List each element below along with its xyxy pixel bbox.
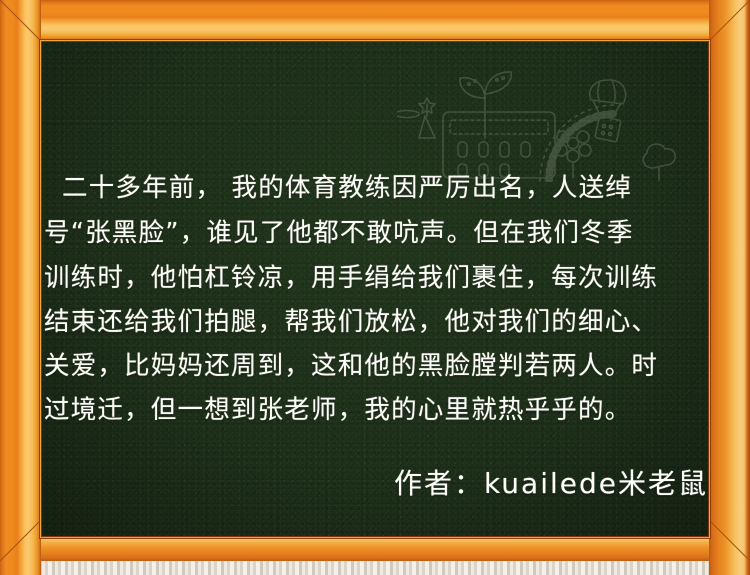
body-line-4: 结束还给我们拍腿，帮我们放松，他对我们的细心、 — [44, 301, 708, 338]
blackboard-surface: 二十多年前， 我的体育教练因严厉出名，人送绰 号“张黑脸”，谁见了他都不敢吭声。… — [42, 42, 708, 536]
chalk-text-block: 二十多年前， 我的体育教练因严厉出名，人送绰 号“张黑脸”，谁见了他都不敢吭声。… — [42, 42, 708, 536]
body-line-3: 训练时，他怕杠铃凉，用手绢给我们裹住，每次训练 — [44, 257, 708, 294]
body-line-1: 二十多年前， 我的体育教练因严厉出名，人送绰 — [62, 167, 708, 204]
author-signature: 作者：kuailede米老鼠 — [42, 462, 708, 502]
body-line-5: 关爱，比妈妈还周到，这和他的黑脸膛判若两人。时 — [44, 345, 708, 382]
body-line-6: 过境迁，但一想到张老师，我的心里就热乎乎的。 — [44, 389, 708, 426]
chalkboard-poster: 二十多年前， 我的体育教练因严厉出名，人送绰 号“张黑脸”，谁见了他都不敢吭声。… — [0, 0, 750, 575]
body-line-2: 号“张黑脸”，谁见了他都不敢吭声。但在我们冬季 — [44, 212, 708, 249]
